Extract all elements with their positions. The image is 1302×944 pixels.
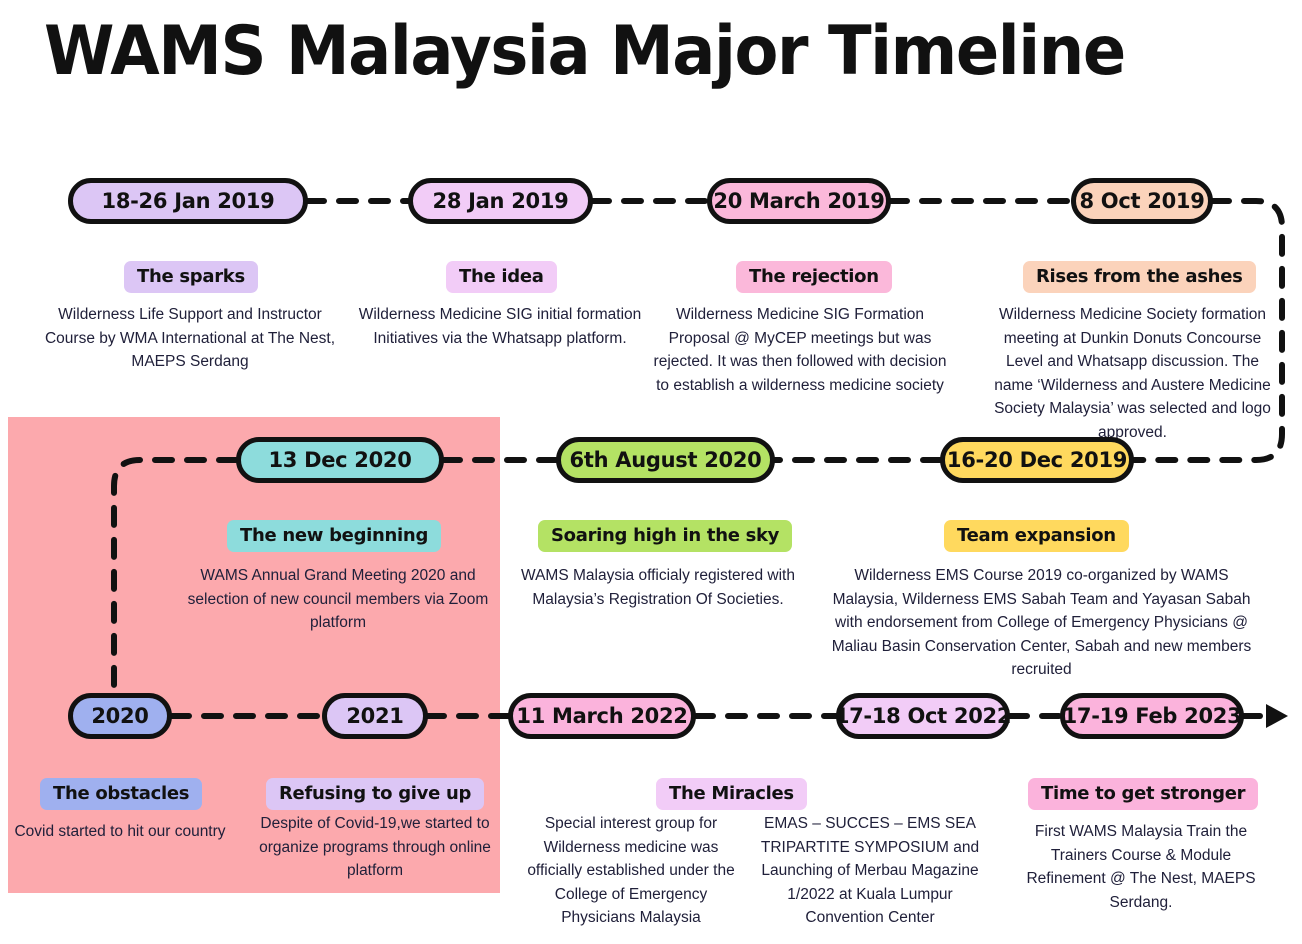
badge-event-11[interactable]: The Miracles xyxy=(656,778,807,810)
desc-event-7: WAMS Annual Grand Meeting 2020 and selec… xyxy=(184,564,492,635)
node-event-4-date[interactable]: 8 Oct 2019 xyxy=(1071,178,1213,224)
badge-label: The obstacles xyxy=(53,783,189,804)
desc-event-2: Wilderness Medicine SIG initial formatio… xyxy=(352,303,648,350)
desc-event-3: Wilderness Medicine SIG Formation Propos… xyxy=(646,303,954,397)
badge-event-4[interactable]: Rises from the ashes xyxy=(1023,261,1256,293)
node-event-8-date[interactable]: 2020 xyxy=(68,693,172,739)
node-event-2-date[interactable]: 28 Jan 2019 xyxy=(408,178,593,224)
node-event-12-date[interactable]: 17-19 Feb 2023 xyxy=(1060,693,1244,739)
node-event-7-date[interactable]: 13 Dec 2020 xyxy=(236,437,444,483)
timeline-arrow-icon xyxy=(1266,704,1288,728)
badge-event-9[interactable]: Refusing to give up xyxy=(266,778,484,810)
node-event-3-date[interactable]: 20 March 2019 xyxy=(707,178,891,224)
badge-label: Team expansion xyxy=(957,525,1116,546)
node-label: 17-18 Oct 2022 xyxy=(835,704,1011,728)
node-label: 28 Jan 2019 xyxy=(433,189,569,213)
node-label: 16-20 Dec 2019 xyxy=(947,448,1127,472)
badge-label: The idea xyxy=(459,266,544,287)
badge-label: The Miracles xyxy=(669,783,794,804)
desc-event-6: WAMS Malaysia officialy registered with … xyxy=(512,564,804,611)
desc-event-10: Special interest group for Wilderness me… xyxy=(518,812,744,930)
badge-event-12[interactable]: Time to get stronger xyxy=(1028,778,1258,810)
badge-label: The sparks xyxy=(137,266,245,287)
timeline-infographic: WAMS Malaysia Major Timeline 18-26 Jan 2… xyxy=(0,0,1302,944)
badge-event-5[interactable]: Team expansion xyxy=(944,520,1129,552)
node-event-5-date[interactable]: 16-20 Dec 2019 xyxy=(940,437,1134,483)
badge-label: Soaring high in the sky xyxy=(551,525,779,546)
badge-event-6[interactable]: Soaring high in the sky xyxy=(538,520,792,552)
node-event-10-date[interactable]: 11 March 2022 xyxy=(508,693,696,739)
node-label: 8 Oct 2019 xyxy=(1079,189,1204,213)
desc-event-9: Despite of Covid-19,we started to organi… xyxy=(243,812,507,883)
badge-label: The rejection xyxy=(749,266,879,287)
node-event-11-date[interactable]: 17-18 Oct 2022 xyxy=(836,693,1010,739)
desc-event-1: Wilderness Life Support and Instructor C… xyxy=(38,303,342,374)
node-label: 18-26 Jan 2019 xyxy=(102,189,275,213)
node-event-9-date[interactable]: 2021 xyxy=(322,693,428,739)
badge-event-2[interactable]: The idea xyxy=(446,261,557,293)
badge-label: The new beginning xyxy=(240,525,428,546)
desc-event-4: Wilderness Medicine Society formation me… xyxy=(990,303,1275,444)
desc-event-5: Wilderness EMS Course 2019 co-organized … xyxy=(820,564,1263,682)
badge-event-1[interactable]: The sparks xyxy=(124,261,258,293)
badge-event-8[interactable]: The obstacles xyxy=(40,778,202,810)
node-label: 2021 xyxy=(346,704,403,728)
desc-event-11: EMAS – SUCCES – EMS SEA TRIPARTITE SYMPO… xyxy=(760,812,980,930)
node-event-1-date[interactable]: 18-26 Jan 2019 xyxy=(68,178,308,224)
node-label: 2020 xyxy=(91,704,148,728)
node-label: 13 Dec 2020 xyxy=(268,448,411,472)
desc-event-8: Covid started to hit our country xyxy=(8,820,232,844)
node-label: 20 March 2019 xyxy=(713,189,884,213)
badge-label: Rises from the ashes xyxy=(1036,266,1243,287)
badge-label: Refusing to give up xyxy=(279,783,471,804)
badge-event-3[interactable]: The rejection xyxy=(736,261,892,293)
node-event-6-date[interactable]: 6th August 2020 xyxy=(556,437,775,483)
node-label: 17-19 Feb 2023 xyxy=(1063,704,1242,728)
badge-event-7[interactable]: The new beginning xyxy=(227,520,441,552)
node-label: 6th August 2020 xyxy=(570,448,762,472)
desc-event-12: First WAMS Malaysia Train the Trainers C… xyxy=(1020,820,1262,914)
node-label: 11 March 2022 xyxy=(516,704,687,728)
badge-label: Time to get stronger xyxy=(1041,783,1245,804)
